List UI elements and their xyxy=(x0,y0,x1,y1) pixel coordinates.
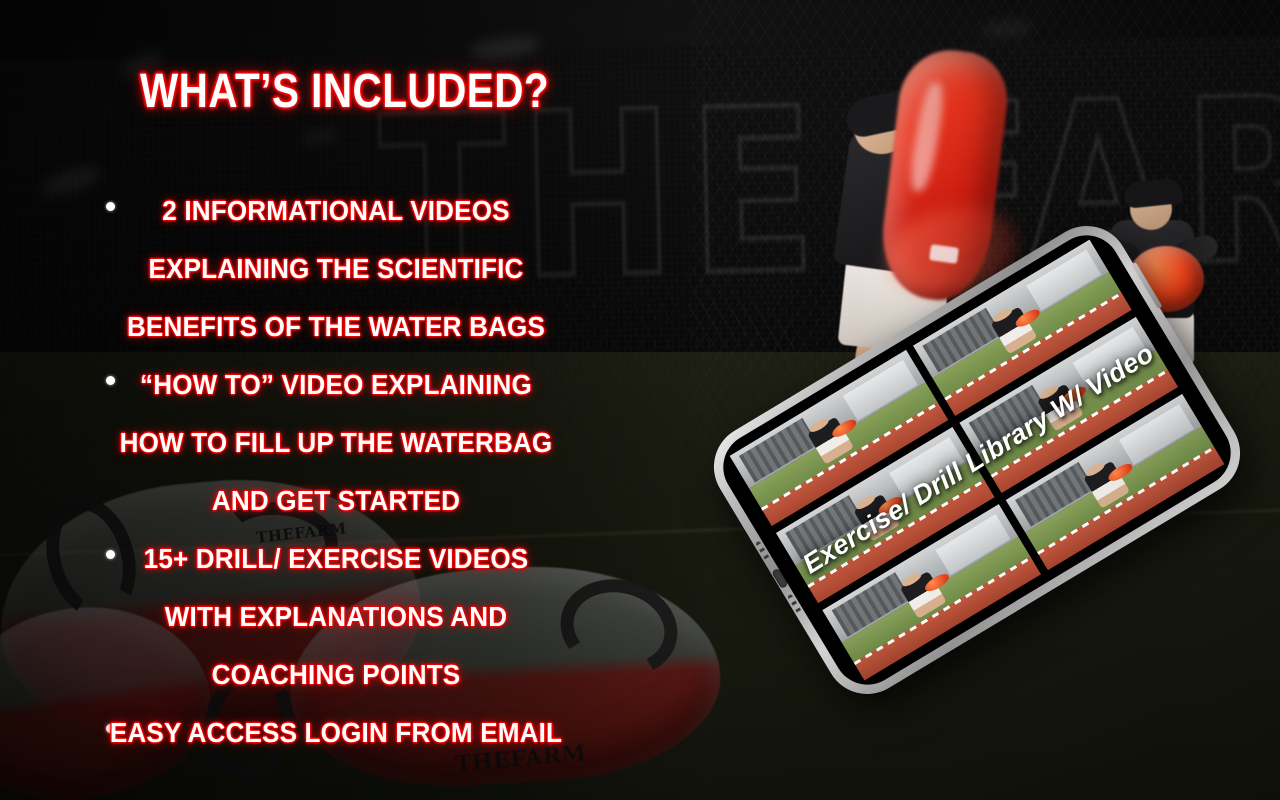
list-item: 15+ DRILL/ EXERCISE VIDEOS WITH EXPLANAT… xyxy=(0,530,672,704)
list-item-line: COACHING POINTS xyxy=(24,646,649,704)
list-item-line: BENEFITS OF THE WATER BAGS xyxy=(24,298,649,356)
list-item: 2 INFORMATIONAL VIDEOS EXPLAINING THE SC… xyxy=(0,182,672,356)
list-item-line: “HOW TO” VIDEO EXPLAINING xyxy=(24,356,649,414)
list-item: EASY ACCESS LOGIN FROM EMAIL xyxy=(0,704,672,762)
list-item-line: 2 INFORMATIONAL VIDEOS xyxy=(24,182,649,240)
list-item-line: WITH EXPLANATIONS AND xyxy=(24,588,649,646)
list-item: “HOW TO” VIDEO EXPLAINING HOW TO FILL UP… xyxy=(0,356,672,530)
list-item-line: 15+ DRILL/ EXERCISE VIDEOS xyxy=(24,530,649,588)
list-item-line: AND GET STARTED xyxy=(24,472,649,530)
list-item-line: HOW TO FILL UP THE WATERBAG xyxy=(24,414,649,472)
text-overlay: WHAT’S INCLUDED? 2 INFORMATIONAL VIDEOS … xyxy=(0,0,1280,800)
promo-stage: THE FARM THEFARM THEFARM xyxy=(0,0,1280,800)
included-list: 2 INFORMATIONAL VIDEOS EXPLAINING THE SC… xyxy=(0,182,672,762)
list-item-line: EXPLAINING THE SCIENTIFIC xyxy=(24,240,649,298)
list-item-line: EASY ACCESS LOGIN FROM EMAIL xyxy=(24,704,649,762)
page-title: WHAT’S INCLUDED? xyxy=(140,64,549,119)
